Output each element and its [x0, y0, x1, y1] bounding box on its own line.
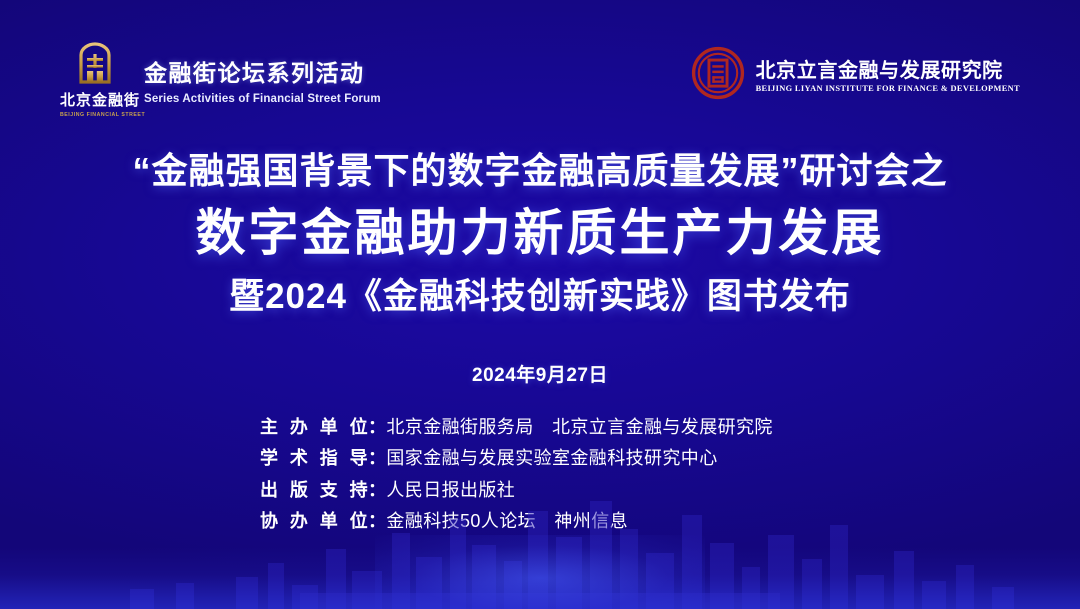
bjfs-org-en: BEIJING FINANCIAL STREET [60, 112, 130, 118]
beijing-financial-street-gate-icon [75, 42, 115, 86]
event-date: 2024年9月27日 [0, 360, 1080, 387]
credit-label: 协办单位 [260, 509, 368, 533]
headline-line-2: 数字金融助力新质生产力发展 [0, 204, 1080, 262]
credit-colon: ： [368, 415, 386, 439]
credit-value: 国家金融与发展实验室金融科技研究中心 [386, 446, 820, 470]
credit-value: 人民日报出版社 [386, 478, 820, 502]
forum-series-title-cn: 金融街论坛系列活动 [144, 54, 381, 88]
poster-canvas: 北京金融街 BEIJING FINANCIAL STREET 金融街论坛系列活动… [0, 0, 1080, 609]
forum-series-title-en: Series Activities of Financial Street Fo… [144, 93, 381, 105]
liyan-institute-seal-icon [691, 46, 745, 100]
credit-row: 出版支持 ： 人民日报出版社 [260, 478, 820, 502]
headline-line-3: 暨2024《金融科技创新实践》图书发布 [0, 276, 1080, 317]
credit-label: 主办单位 [260, 415, 368, 439]
financial-street-forum-titles: 金融街论坛系列活动 Series Activities of Financial… [144, 40, 381, 105]
credit-colon: ： [368, 509, 386, 533]
credit-row: 主办单位 ： 北京金融街服务局 北京立言金融与发展研究院 [260, 415, 820, 439]
liyan-org-en: BEIJING LIYAN INSTITUTE FOR FINANCE & DE… [756, 84, 1020, 93]
skyline-glow-floor [0, 547, 1080, 609]
liyan-org-cn: 北京立言金融与发展研究院 [756, 54, 1020, 83]
liyan-titles: 北京立言金融与发展研究院 BEIJING LIYAN INSTITUTE FOR… [756, 54, 1020, 93]
credit-label: 出版支持 [260, 478, 368, 502]
logo-beijing-financial-street: 北京金融街 BEIJING FINANCIAL STREET 金融街论坛系列活动… [60, 40, 381, 118]
headline-line-1: “金融强国背景下的数字金融高质量发展”研讨会之 [0, 150, 1080, 192]
skyline-glow-core [375, 535, 705, 609]
credit-value: 金融科技50人论坛 神州信息 [386, 509, 820, 533]
bjfs-org-cn: 北京金融街 [60, 89, 130, 110]
bjfs-mark-block: 北京金融街 BEIJING FINANCIAL STREET [60, 40, 130, 118]
credit-colon: ： [368, 478, 386, 502]
credit-row: 协办单位 ： 金融科技50人论坛 神州信息 [260, 509, 820, 533]
logo-liyan-institute: 北京立言金融与发展研究院 BEIJING LIYAN INSTITUTE FOR… [691, 40, 1020, 100]
credit-row: 学术指导 ： 国家金融与发展实验室金融科技研究中心 [260, 446, 820, 470]
poster-header: 北京金融街 BEIJING FINANCIAL STREET 金融街论坛系列活动… [0, 40, 1080, 120]
credit-value: 北京金融街服务局 北京立言金融与发展研究院 [386, 415, 820, 439]
credits-block: 主办单位 ： 北京金融街服务局 北京立言金融与发展研究院 学术指导 ： 国家金融… [0, 415, 1080, 533]
credit-label: 学术指导 [260, 446, 368, 470]
headline-block: “金融强国背景下的数字金融高质量发展”研讨会之 数字金融助力新质生产力发展 暨2… [0, 150, 1080, 318]
credit-colon: ： [368, 446, 386, 470]
